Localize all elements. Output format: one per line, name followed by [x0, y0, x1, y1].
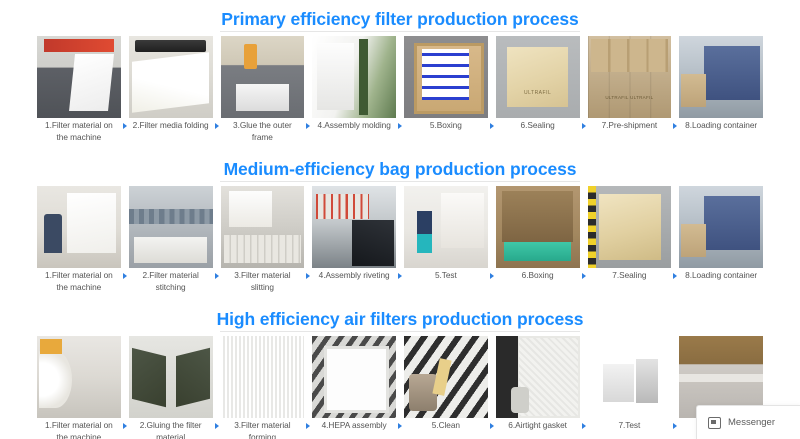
step-caption-text: 2.Gluing the filter material — [140, 420, 202, 439]
process-image-tile[interactable] — [496, 36, 580, 118]
process-section-high: High efficiency air filters production p… — [0, 298, 800, 439]
arrow-right-icon — [398, 423, 402, 429]
filter-material-forming-photo — [221, 336, 305, 418]
title-divider-rule — [220, 31, 580, 32]
step-caption: 1.Filter material on the machine — [37, 420, 121, 439]
step-caption-text: 8.Loading container — [685, 120, 757, 130]
process-image-tile[interactable] — [312, 36, 396, 118]
product-process-page: Primary efficiency filter production pro… — [0, 0, 800, 439]
arrow-right-icon — [398, 123, 402, 129]
clean-photo — [404, 336, 488, 418]
step-caption: 8.Loading container — [679, 120, 763, 143]
process-image-tile[interactable] — [404, 186, 488, 268]
arrow-right-icon — [490, 423, 494, 429]
step-caption: 4.Assembly riveting — [312, 270, 396, 293]
assembly-riveting-photo — [312, 186, 396, 268]
arrow-right-icon — [306, 273, 310, 279]
process-image-tile[interactable] — [679, 36, 763, 118]
boxing-photo — [496, 186, 580, 268]
filter-material-stitching-photo — [129, 186, 213, 268]
arrow-right-icon — [490, 273, 494, 279]
process-image-tile[interactable] — [404, 336, 488, 418]
hepa-assembly-photo — [312, 336, 396, 418]
step-caption: 3.Filter material slitting — [221, 270, 305, 293]
filter-material-on-machine-photo — [37, 336, 121, 418]
arrow-right-icon — [123, 273, 127, 279]
step-caption: 5.Boxing — [404, 120, 488, 143]
process-section-primary: Primary efficiency filter production pro… — [0, 0, 800, 148]
process-image-tile[interactable] — [129, 186, 213, 268]
step-caption: 5.Clean — [404, 420, 488, 439]
step-caption: 1.Filter material on the machine — [37, 270, 121, 293]
process-image-tile[interactable] — [37, 36, 121, 118]
process-image-tile[interactable] — [221, 36, 305, 118]
step-caption: 1.Filter material on the machine — [37, 120, 121, 143]
step-caption-text: 8.Loading container — [685, 270, 757, 280]
step-caption-text: 1.Filter material on the machine — [45, 120, 113, 142]
step-caption: 2.Gluing the filter material — [129, 420, 213, 439]
step-caption: 6.Sealing — [496, 120, 580, 143]
process-image-tile[interactable] — [221, 186, 305, 268]
step-caption-text: 2.Filter media folding — [133, 120, 209, 130]
arrow-right-icon — [673, 273, 677, 279]
step-caption-text: 4.Assembly molding — [317, 120, 390, 130]
process-image-tile[interactable] — [312, 336, 396, 418]
process-image-tile[interactable] — [404, 36, 488, 118]
step-caption-text: 5.Boxing — [430, 120, 462, 130]
process-caption-row-high: 1.Filter material on the machine 2.Gluin… — [37, 420, 763, 439]
step-caption-text: 3.Glue the outer frame — [233, 120, 292, 142]
arrow-right-icon — [215, 273, 219, 279]
process-image-tile[interactable] — [37, 186, 121, 268]
process-caption-row-medium: 1.Filter material on the machine 2.Filte… — [37, 270, 763, 293]
title-divider-rule — [220, 331, 580, 332]
step-caption-text: 7.Pre-shipment — [602, 120, 658, 130]
test-photo — [404, 186, 488, 268]
step-caption: 6.Airtight gasket — [496, 420, 580, 439]
step-caption: 4.HEPA assembly — [312, 420, 396, 439]
process-image-strip-primary — [37, 36, 763, 118]
step-caption: 2.Filter media folding — [129, 120, 213, 143]
step-caption-text: 4.HEPA assembly — [322, 420, 387, 430]
process-image-tile[interactable] — [37, 336, 121, 418]
process-image-tile[interactable] — [129, 336, 213, 418]
filter-material-on-machine-photo — [37, 186, 121, 268]
process-image-tile[interactable] — [312, 186, 396, 268]
chat-bubble-icon — [708, 417, 721, 429]
boxing-photo — [404, 36, 488, 118]
arrow-right-icon — [123, 423, 127, 429]
step-caption-text: 6.Sealing — [521, 120, 555, 130]
process-image-tile[interactable] — [496, 336, 580, 418]
filter-material-on-machine-photo — [37, 36, 121, 118]
process-caption-row-primary: 1.Filter material on the machine 2.Filte… — [37, 120, 763, 143]
step-caption-text: 3.Filter material forming — [234, 420, 290, 439]
step-caption-text: 3.Filter material slitting — [234, 270, 290, 292]
arrow-right-icon — [306, 423, 310, 429]
arrow-right-icon — [582, 123, 586, 129]
process-image-tile[interactable] — [221, 336, 305, 418]
step-caption: 3.Glue the outer frame — [221, 120, 305, 143]
process-image-tile[interactable] — [129, 36, 213, 118]
step-caption: 7.Sealing — [588, 270, 672, 293]
test-photo — [588, 336, 672, 418]
step-caption: 6.Boxing — [496, 270, 580, 293]
step-caption-text: 6.Boxing — [522, 270, 554, 280]
gluing-filter-material-photo — [129, 336, 213, 418]
sealing-photo — [588, 186, 672, 268]
arrow-right-icon — [673, 123, 677, 129]
loading-container-photo — [679, 36, 763, 118]
process-image-tile[interactable] — [679, 186, 763, 268]
sealing-photo — [496, 36, 580, 118]
step-caption-text: 7.Test — [618, 420, 640, 430]
loading-container-photo — [679, 186, 763, 268]
title-divider-rule — [220, 181, 580, 182]
step-caption-text: 2.Filter material stitching — [142, 270, 198, 292]
glue-outer-frame-photo — [221, 36, 305, 118]
messenger-widget[interactable]: Messenger — [696, 405, 800, 439]
step-caption: 3.Filter material forming — [221, 420, 305, 439]
arrow-right-icon — [398, 273, 402, 279]
step-caption-text: 1.Filter material on the machine — [45, 420, 113, 439]
section-title-primary: Primary efficiency filter production pro… — [0, 0, 800, 29]
filter-media-folding-photo — [129, 36, 213, 118]
step-caption-text: 5.Test — [435, 270, 457, 280]
step-caption: 7.Pre-shipment — [588, 120, 672, 143]
process-image-tile[interactable] — [588, 36, 672, 118]
step-caption-text: 5.Clean — [432, 420, 460, 430]
pre-shipment-photo — [588, 36, 672, 118]
arrow-right-icon — [215, 123, 219, 129]
step-caption: 4.Assembly molding — [312, 120, 396, 143]
arrow-right-icon — [306, 123, 310, 129]
process-image-strip-medium — [37, 186, 763, 268]
arrow-right-icon — [582, 273, 586, 279]
step-caption: 7.Test — [588, 420, 672, 439]
filter-material-slitting-photo — [221, 186, 305, 268]
process-image-tile[interactable] — [588, 336, 672, 418]
step-caption-text: 4.Assembly riveting — [319, 270, 390, 280]
process-image-tile[interactable] — [496, 186, 580, 268]
step-caption-text: 6.Airtight gasket — [508, 420, 567, 430]
section-title-high: High efficiency air filters production p… — [0, 298, 800, 329]
process-section-medium: Medium-efficiency bag production process… — [0, 148, 800, 298]
assembly-molding-photo — [312, 36, 396, 118]
arrow-right-icon — [673, 423, 677, 429]
arrow-right-icon — [490, 123, 494, 129]
arrow-right-icon — [582, 423, 586, 429]
messenger-label: Messenger — [728, 417, 775, 428]
process-image-strip-high — [37, 336, 763, 418]
arrow-right-icon — [215, 423, 219, 429]
step-caption: 8.Loading container — [679, 270, 763, 293]
section-title-medium: Medium-efficiency bag production process — [0, 148, 800, 179]
step-caption-text: 1.Filter material on the machine — [45, 270, 113, 292]
step-caption-text: 7.Sealing — [612, 270, 646, 280]
step-caption: 2.Filter material stitching — [129, 270, 213, 293]
step-caption: 5.Test — [404, 270, 488, 293]
airtight-gasket-photo — [496, 336, 580, 418]
process-image-tile[interactable] — [588, 186, 672, 268]
arrow-right-icon — [123, 123, 127, 129]
